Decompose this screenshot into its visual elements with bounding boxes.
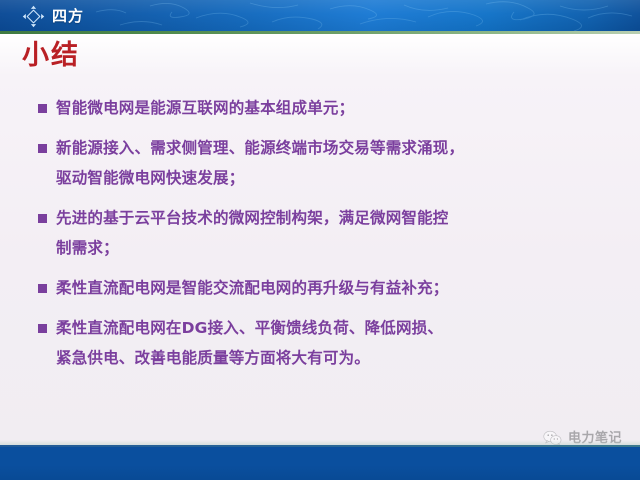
bullet-line: 先进的基于云平台技术的微网控制构架，满足微网智能控 (56, 206, 618, 231)
square-bullet-icon (38, 324, 47, 333)
four-direction-diamond-icon (22, 5, 45, 28)
list-item: 先进的基于云平台技术的微网控制构架，满足微网智能控 制需求； (38, 206, 618, 261)
list-item-text: 柔性直流配电网在DG接入、平衡馈线负荷、降低网损、 紧急供电、改善电能质量等方面… (56, 316, 618, 371)
summary-bullet-list: 智能微电网是能源互联网的基本组成单元； 新能源接入、需求侧管理、能源终端市场交易… (38, 96, 618, 386)
list-item-text: 智能微电网是能源互联网的基本组成单元； (56, 96, 618, 121)
brand-name-label: 四方 (52, 9, 84, 24)
page-title: 小结 (22, 42, 80, 69)
slide-footer-bar (0, 447, 640, 480)
presentation-slide: 四方 小结 智能微电网是能源互联网的基本组成单元； 新能源接入、需求侧管理、能源… (0, 0, 640, 480)
brand-logo-group[interactable]: 四方 (22, 4, 84, 28)
bullet-line: 驱动智能微电网快速发展； (56, 166, 618, 191)
bullet-line: 柔性直流配电网在DG接入、平衡馈线负荷、降低网损、 (56, 316, 618, 341)
square-bullet-icon (38, 144, 47, 153)
square-bullet-icon (38, 284, 47, 293)
bullet-line: 智能微电网是能源互联网的基本组成单元； (56, 96, 618, 121)
bullet-line: 新能源接入、需求侧管理、能源终端市场交易等需求涌现， (56, 136, 618, 161)
list-item: 智能微电网是能源互联网的基本组成单元； (38, 96, 618, 121)
bullet-line: 制需求； (56, 236, 618, 261)
list-item-text: 新能源接入、需求侧管理、能源终端市场交易等需求涌现， 驱动智能微电网快速发展； (56, 136, 618, 191)
bullet-line: 紧急供电、改善电能质量等方面将大有可为。 (56, 346, 618, 371)
slide-header-bar: 四方 (0, 0, 640, 31)
header-wave-pattern (0, 0, 640, 31)
square-bullet-icon (38, 104, 47, 113)
square-bullet-icon (38, 214, 47, 223)
list-item: 新能源接入、需求侧管理、能源终端市场交易等需求涌现， 驱动智能微电网快速发展； (38, 136, 618, 191)
list-item-text: 柔性直流配电网是智能交流配电网的再升级与有益补充； (56, 276, 618, 301)
list-item-text: 先进的基于云平台技术的微网控制构架，满足微网智能控 制需求； (56, 206, 618, 261)
list-item: 柔性直流配电网是智能交流配电网的再升级与有益补充； (38, 276, 618, 301)
bullet-line: 柔性直流配电网是智能交流配电网的再升级与有益补充； (56, 276, 618, 301)
list-item: 柔性直流配电网在DG接入、平衡馈线负荷、降低网损、 紧急供电、改善电能质量等方面… (38, 316, 618, 371)
